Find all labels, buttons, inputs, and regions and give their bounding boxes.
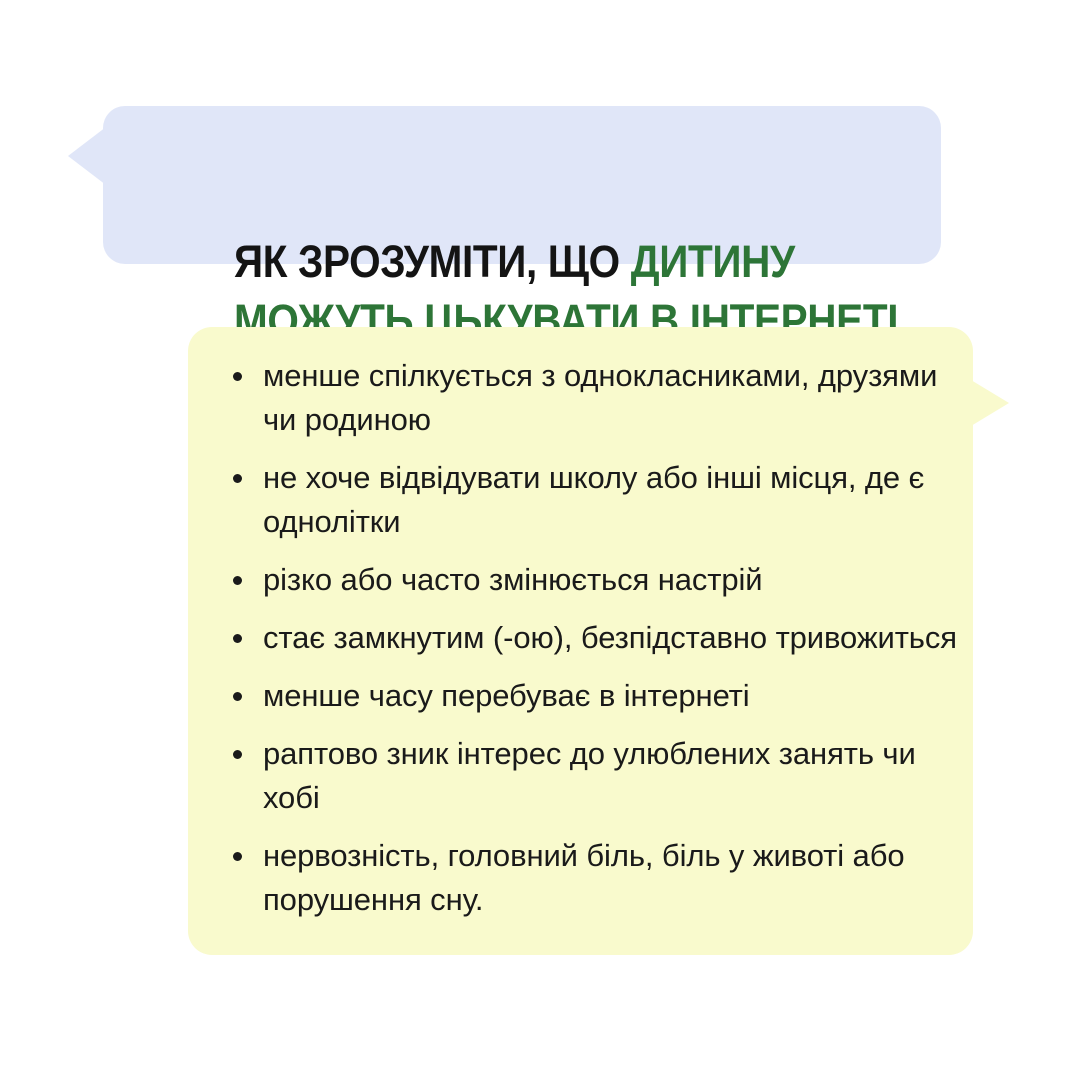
list-item: менше спілкується з однокласниками, друз… (228, 354, 968, 442)
title-line-1: ЯК ЗРОЗУМІТИ, ЩО ДИТИНУ (234, 232, 954, 291)
list-item: різко або часто змінюється настрій (228, 558, 968, 602)
list-item: нервозність, головний біль, біль у живот… (228, 834, 968, 922)
bullet-icon (233, 474, 242, 483)
list-item: менше часу перебуває в інтернеті (228, 674, 968, 718)
list-item-label: раптово зник інтерес до улюблених занять… (263, 732, 968, 820)
list-item-label: не хоче відвідувати школу або інші місця… (263, 456, 968, 544)
bullet-icon (233, 692, 242, 701)
bullet-icon (233, 576, 242, 585)
bullet-icon (233, 634, 242, 643)
bullet-icon (233, 372, 242, 381)
list-item-label: нервозність, головний біль, біль у живот… (263, 834, 968, 922)
bullet-icon (233, 852, 242, 861)
list-item-label: стає замкнутим (-ою), безпідставно триво… (263, 616, 968, 660)
title-line-1-plain: ЯК ЗРОЗУМІТИ, ЩО (234, 236, 631, 287)
title-line-1-accent: ДИТИНУ (631, 236, 795, 287)
list-item: не хоче відвідувати школу або інші місця… (228, 456, 968, 544)
list-item-label: менше спілкується з однокласниками, друз… (263, 354, 968, 442)
bullet-icon (233, 750, 242, 759)
title-bubble-tail-icon (68, 127, 106, 185)
infographic-canvas: ЯК ЗРОЗУМІТИ, ЩО ДИТИНУ МОЖУТЬ ЦЬКУВАТИ … (0, 0, 1080, 1080)
symptoms-list: менше спілкується з однокласниками, друз… (228, 354, 968, 922)
list-item-label: різко або часто змінюється настрій (263, 558, 968, 602)
list-bubble-tail-icon (971, 380, 1009, 426)
list-item: стає замкнутим (-ою), безпідставно триво… (228, 616, 968, 660)
list-item: раптово зник інтерес до улюблених занять… (228, 732, 968, 820)
list-item-label: менше часу перебуває в інтернеті (263, 674, 968, 718)
title-bubble: ЯК ЗРОЗУМІТИ, ЩО ДИТИНУ МОЖУТЬ ЦЬКУВАТИ … (103, 106, 941, 264)
